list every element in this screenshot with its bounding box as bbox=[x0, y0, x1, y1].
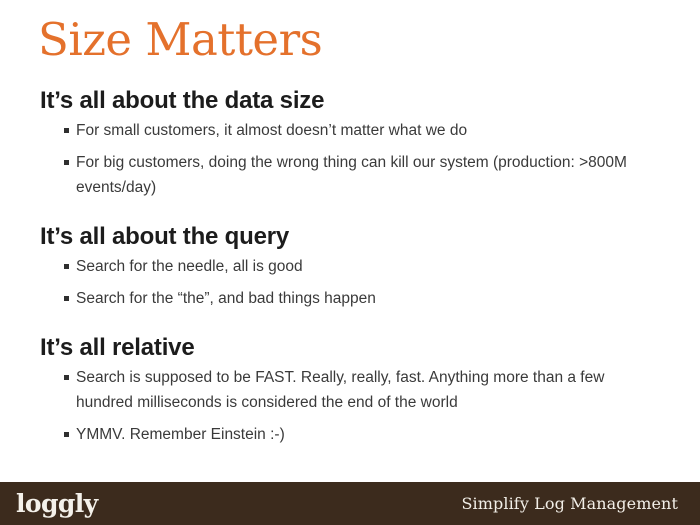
square-bullet-icon bbox=[64, 160, 69, 165]
square-bullet-icon bbox=[64, 375, 69, 380]
list-item: YMMV. Remember Einstein :-) bbox=[40, 422, 665, 447]
square-bullet-icon bbox=[64, 264, 69, 269]
square-bullet-icon bbox=[64, 432, 69, 437]
list-item-text: Search for the needle, all is good bbox=[76, 258, 303, 275]
slide-footer: loggly Simplify Log Management bbox=[0, 482, 700, 525]
loggly-logo: loggly bbox=[16, 491, 98, 516]
list-item-text: Search is supposed to be FAST. Really, r… bbox=[76, 369, 604, 411]
footer-tagline: Simplify Log Management bbox=[461, 494, 678, 514]
list-item: Search is supposed to be FAST. Really, r… bbox=[40, 365, 665, 415]
section-heading-data-size: It’s all about the data size bbox=[40, 86, 665, 116]
list-item-text: For small customers, it almost doesn’t m… bbox=[76, 122, 467, 139]
list-item: Search for the needle, all is good bbox=[40, 254, 665, 279]
list-item: For small customers, it almost doesn’t m… bbox=[40, 118, 665, 143]
bullet-list-2: Search for the needle, all is good Searc… bbox=[40, 254, 665, 311]
bullet-list-1: For small customers, it almost doesn’t m… bbox=[40, 118, 665, 200]
list-item: For big customers, doing the wrong thing… bbox=[40, 150, 665, 200]
list-item: Search for the “the”, and bad things hap… bbox=[40, 286, 665, 311]
page-title: Size Matters bbox=[38, 12, 322, 68]
content-section-3: It’s all relative Search is supposed to … bbox=[40, 333, 665, 447]
list-item-text: For big customers, doing the wrong thing… bbox=[76, 154, 627, 196]
list-item-text: Search for the “the”, and bad things hap… bbox=[76, 290, 376, 307]
content-section-1: It’s all about the data size For small c… bbox=[40, 86, 665, 200]
square-bullet-icon bbox=[64, 296, 69, 301]
bullet-list-3: Search is supposed to be FAST. Really, r… bbox=[40, 365, 665, 447]
section-heading-query: It’s all about the query bbox=[40, 222, 665, 252]
square-bullet-icon bbox=[64, 128, 69, 133]
slide: Size Matters It’s all about the data siz… bbox=[0, 0, 700, 525]
content-section-2: It’s all about the query Search for the … bbox=[40, 222, 665, 311]
slide-body: It’s all about the data size For small c… bbox=[40, 86, 665, 451]
list-item-text: YMMV. Remember Einstein :-) bbox=[76, 426, 285, 443]
section-heading-relative: It’s all relative bbox=[40, 333, 665, 363]
